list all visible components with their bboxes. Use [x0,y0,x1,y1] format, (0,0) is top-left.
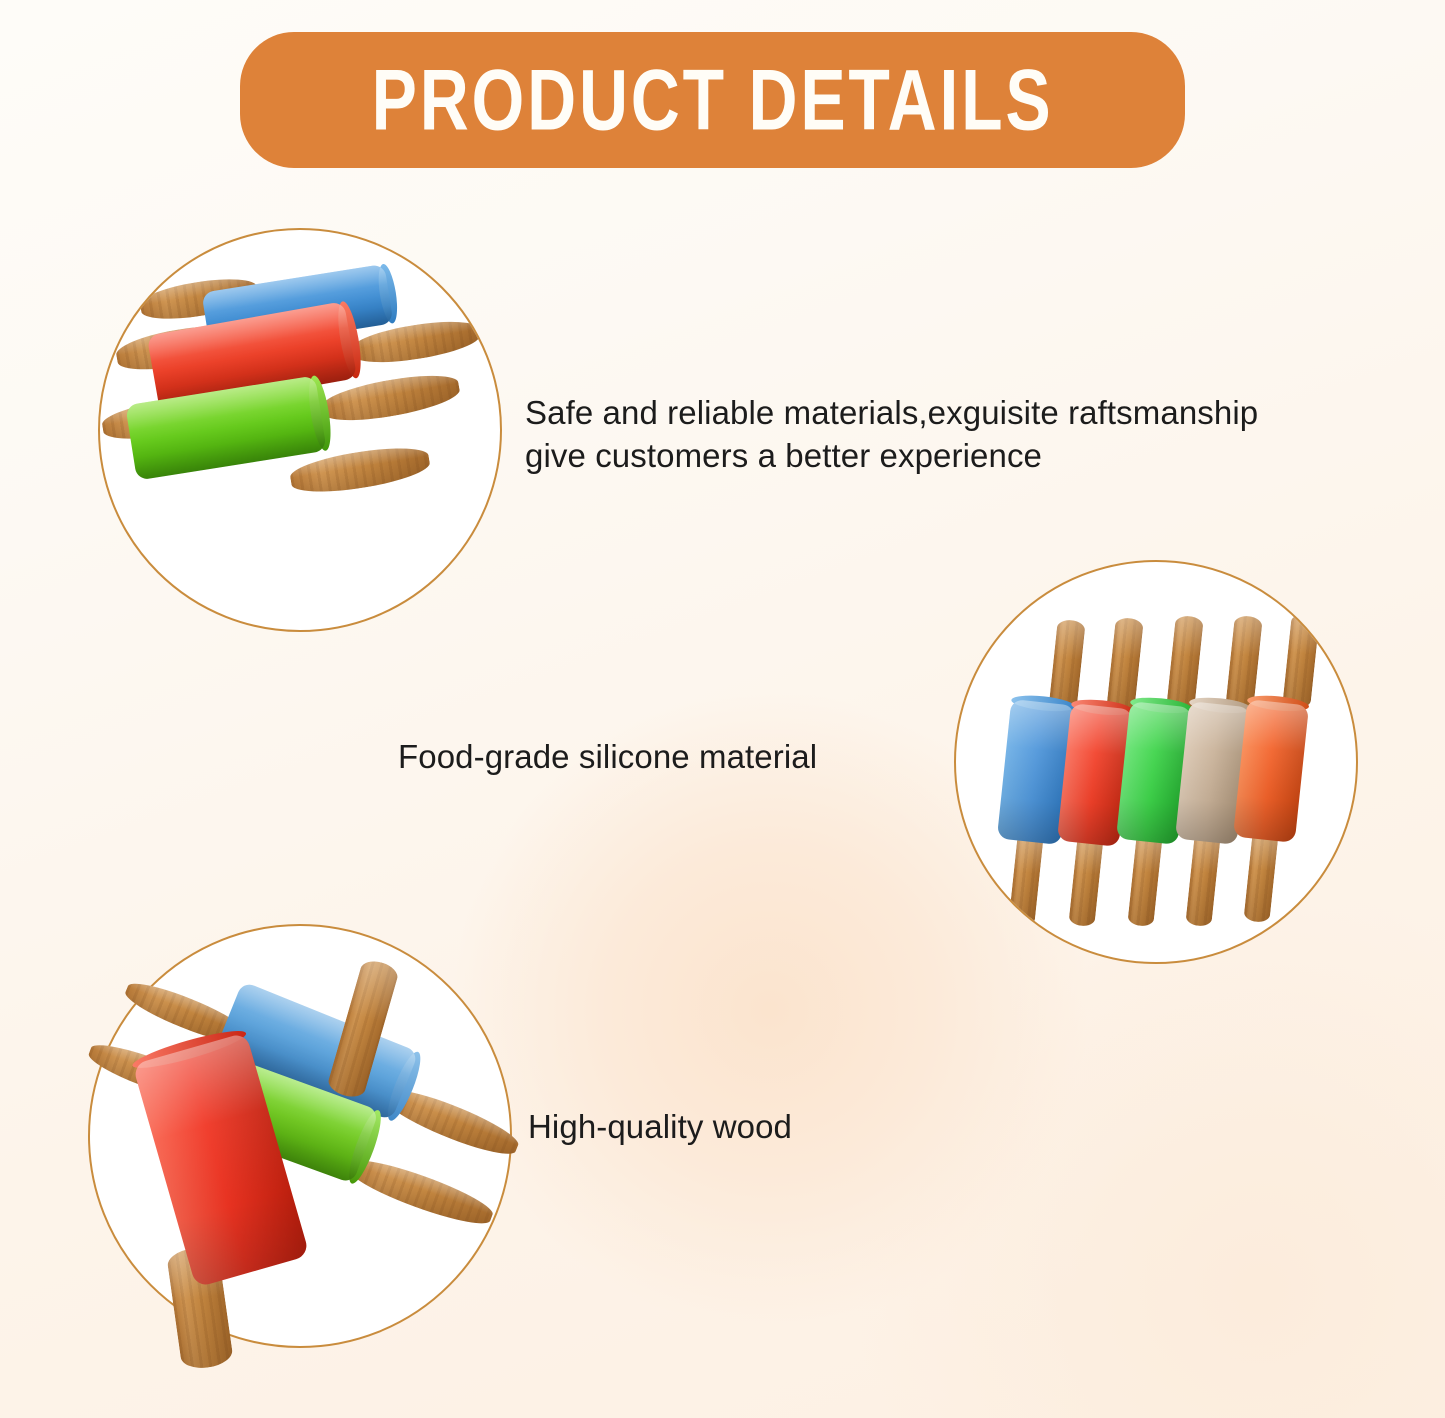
wood-handle [1185,833,1220,927]
feature-image-wood [88,924,512,1348]
silicone-sleeve-orange [1233,699,1309,843]
wood-handle [1008,833,1043,927]
feature-image-materials [98,228,502,632]
wood-handle [1166,615,1204,711]
caption-line: give customers a better experience [525,435,1430,478]
three-crossed-rolling-pins-photo [90,926,510,1346]
wood-handle [1282,613,1320,709]
three-stacked-rolling-pins-photo [100,230,500,630]
silicone-sleeve-green [125,375,327,480]
feature-caption-wood: High-quality wood [528,1106,792,1149]
caption-line: Safe and reliable materials,exguisite ra… [525,392,1430,435]
feature-image-silicone [954,560,1358,964]
caption-line: Food-grade silicone material [398,736,817,779]
wood-handle [1068,835,1103,927]
wood-handle [1127,833,1162,927]
feature-caption-materials: Safe and reliable materials,exguisite ra… [525,392,1430,478]
feature-caption-silicone: Food-grade silicone material [398,736,817,779]
caption-line: High-quality wood [528,1106,792,1149]
page-title: PRODUCT DETAILS [372,57,1054,143]
five-upright-rolling-pins-photo [956,562,1356,962]
wood-handle [1243,831,1278,923]
product-details-page: PRODUCT DETAILS [0,0,1445,1418]
page-title-banner: PRODUCT DETAILS [240,32,1185,168]
